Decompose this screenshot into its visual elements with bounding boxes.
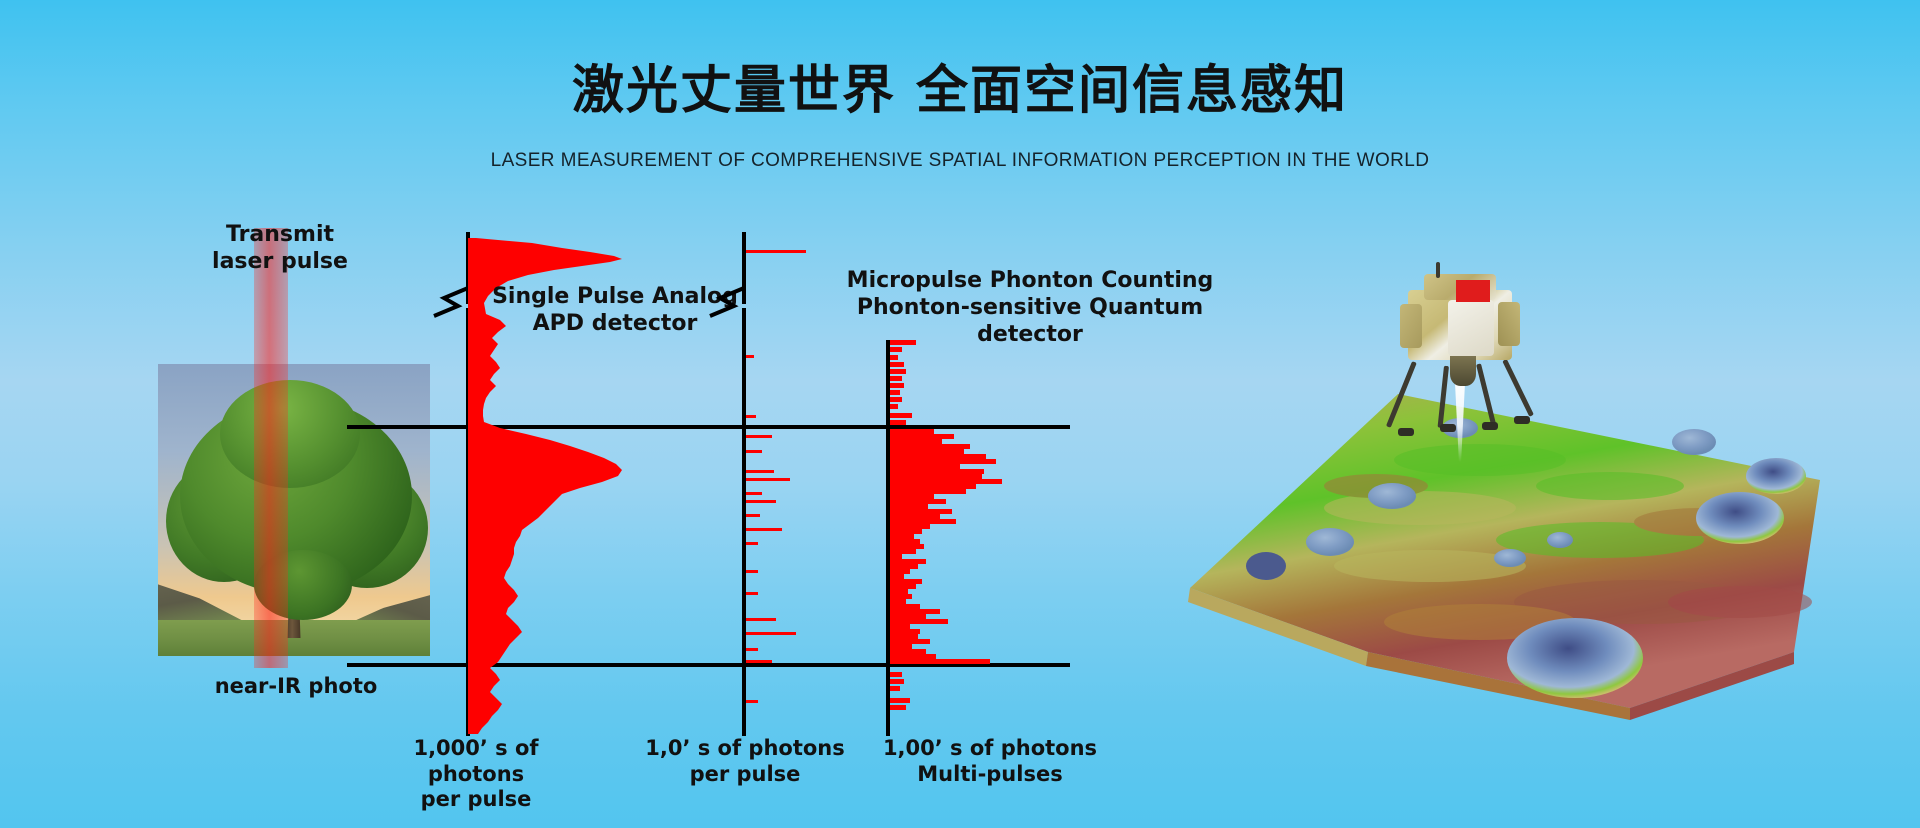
- micropulse-photon-counting-detector-label: Micropulse Phonton Counting Phonton-sens…: [830, 268, 1230, 348]
- waveform-bar: [746, 450, 762, 453]
- lunar-scene: [1180, 270, 1820, 720]
- waveform-bar: [746, 435, 772, 438]
- waveform-bar: [890, 390, 900, 395]
- lander-leg-4: [1502, 359, 1534, 417]
- lander-leg-3: [1476, 363, 1497, 428]
- waveform-bar: [746, 355, 754, 358]
- waveform-bar: [746, 618, 776, 621]
- waveform-bar: [746, 492, 762, 495]
- waveform-bar: [746, 542, 758, 545]
- bump-5: [1547, 532, 1573, 548]
- waveform-bar: [746, 500, 776, 503]
- near-ir-photo-label: near-IR photo: [196, 674, 396, 700]
- waveform-bar: [746, 528, 782, 531]
- plot3-bar-group: [890, 0, 1110, 828]
- waveform-bar: [890, 397, 902, 402]
- bump-6: [1246, 552, 1286, 580]
- waveform-bar: [890, 698, 910, 703]
- lander-thruster-nozzle: [1450, 356, 1476, 386]
- waveform-bar: [746, 660, 772, 663]
- crater-right-3: [1672, 429, 1716, 455]
- waveform-bar: [890, 413, 912, 418]
- bump-1: [1368, 483, 1416, 509]
- waveform-bar: [890, 686, 900, 691]
- plot2-caption: 1,0’ s of photons per pulse: [640, 736, 850, 787]
- waveform-bar: [890, 659, 990, 664]
- waveform-bar: [890, 383, 904, 388]
- crater-right-1: [1696, 492, 1784, 544]
- lander-panel-right: [1498, 302, 1520, 346]
- bump-4: [1494, 549, 1526, 567]
- lander-antenna: [1436, 262, 1440, 278]
- lunar-lander: [1390, 270, 1530, 430]
- waveform-bar: [890, 672, 902, 677]
- waveform-bar: [890, 705, 906, 710]
- crater-large: [1507, 618, 1643, 698]
- bump-3: [1306, 528, 1354, 556]
- laser-beam: [254, 228, 288, 668]
- lander-pad-2: [1440, 424, 1456, 432]
- waveform-bar: [746, 478, 790, 481]
- waveform-bar: [890, 404, 898, 409]
- waveform-bar: [746, 648, 758, 651]
- china-flag-icon: [1456, 280, 1490, 302]
- banner-stage: 激光丈量世界 全面空间信息感知 LASER MEASUREMENT OF COM…: [0, 0, 1920, 828]
- waveform-bar: [746, 592, 758, 595]
- crater-right-2: [1746, 458, 1806, 494]
- lander-leg-2: [1438, 366, 1449, 428]
- waveform-bar: [746, 250, 806, 253]
- lander-pad-1: [1398, 428, 1414, 436]
- lander-pad-4: [1514, 416, 1530, 424]
- plot1-caption: 1,000’ s of photons per pulse: [366, 736, 586, 813]
- waveform-bar: [746, 632, 796, 635]
- waveform-bar: [890, 420, 906, 425]
- near-ir-photo-panel: [158, 364, 430, 656]
- lander-pad-3: [1482, 422, 1498, 430]
- lander-panel-left: [1400, 304, 1422, 348]
- plot3-caption: 1,00’ s of photons Multi-pulses: [880, 736, 1100, 787]
- waveform-bar: [746, 700, 758, 703]
- waveform-bar: [890, 679, 904, 684]
- tree-canopy-top: [220, 380, 360, 488]
- waveform-bar: [746, 415, 756, 418]
- waveform-bar: [746, 570, 758, 573]
- tree-photograph: [158, 364, 430, 656]
- waveform-bar: [746, 470, 774, 473]
- waveform-bar: [890, 376, 902, 381]
- waveform-bar: [890, 362, 904, 367]
- waveform-bar: [890, 369, 906, 374]
- transmit-laser-pulse-label: Transmit laser pulse: [180, 222, 380, 276]
- lander-panel-white: [1448, 300, 1494, 356]
- waveform-bar: [746, 514, 760, 517]
- dem-terrain: [1180, 390, 1820, 720]
- lander-leg-1: [1386, 361, 1417, 428]
- waveform-bar: [890, 355, 898, 360]
